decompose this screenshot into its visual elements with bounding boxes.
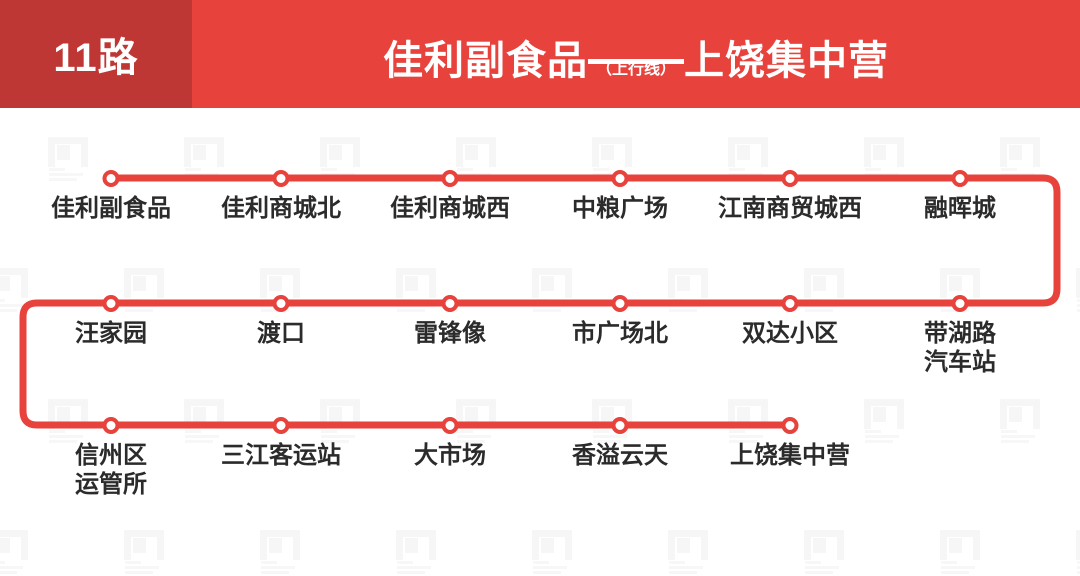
station-label: 中粮广场 [572, 194, 668, 223]
station-label: 双达小区 [742, 319, 838, 348]
station-dot-icon [273, 295, 290, 312]
station-label: 信州区运管所 [75, 441, 147, 500]
route-origin-label: 佳利副食品 [383, 28, 588, 86]
route-number-label: 11路 [0, 0, 192, 108]
route-dash-divider [588, 59, 684, 64]
station-label: 汪家园 [75, 319, 147, 348]
station-label: 佳利副食品 [51, 194, 171, 223]
route-direction-group: （上行线） [588, 39, 684, 84]
station-label-line: 汽车站 [924, 348, 996, 377]
route-diagram: 佳利副食品佳利商城北佳利商城西中粮广场江南商贸城西融晖城汪家园渡口雷锋像市广场北… [0, 108, 1080, 556]
station-label-line: 信州区 [75, 442, 147, 469]
station-label: 三江客运站 [221, 441, 341, 470]
station-dot-icon [273, 170, 290, 187]
station-label-line: 运管所 [75, 470, 147, 499]
station-label: 佳利商城北 [221, 194, 341, 223]
station-dot-icon [103, 417, 120, 434]
station-label-line: 雷锋像 [414, 320, 486, 347]
station-label-line: 佳利商城北 [221, 195, 341, 222]
station-label-line: 上饶集中营 [730, 442, 850, 469]
station-dot-icon [952, 295, 969, 312]
station-dot-icon [782, 417, 799, 434]
station-label-line: 江南商贸城西 [718, 195, 862, 222]
station-label-line: 三江客运站 [221, 442, 341, 469]
route-title-container: 佳利副食品 （上行线） 上饶集中营 [192, 0, 1080, 108]
station-label-line: 佳利副食品 [51, 195, 171, 222]
station-label-line: 中粮广场 [572, 195, 668, 222]
station-label: 江南商贸城西 [718, 194, 862, 223]
station-label-line: 香溢云天 [572, 442, 668, 469]
station-label: 市广场北 [572, 319, 668, 348]
station-label-line: 大市场 [414, 442, 486, 469]
station-label: 佳利商城西 [390, 194, 510, 223]
station-dot-icon [273, 417, 290, 434]
station-label: 雷锋像 [414, 319, 486, 348]
station-label: 渡口 [257, 319, 305, 348]
station-label: 大市场 [414, 441, 486, 470]
station-label-line: 融晖城 [924, 195, 996, 222]
station-dot-icon [612, 417, 629, 434]
station-dot-icon [103, 295, 120, 312]
route-header: 11路 佳利副食品 （上行线） 上饶集中营 [0, 0, 1080, 108]
route-title: 佳利副食品 （上行线） 上饶集中营 [383, 22, 889, 86]
station-dot-icon [103, 170, 120, 187]
station-dot-icon [782, 295, 799, 312]
station-label: 融晖城 [924, 194, 996, 223]
station-dot-icon [612, 295, 629, 312]
station-label-line: 佳利商城西 [390, 195, 510, 222]
station-dot-icon [782, 170, 799, 187]
station-dot-icon [952, 170, 969, 187]
station-dot-icon [442, 295, 459, 312]
route-destination-label: 上饶集中营 [684, 28, 889, 86]
station-dot-icon [442, 170, 459, 187]
station-label: 带湖路汽车站 [924, 319, 996, 378]
station-label-line: 渡口 [257, 320, 305, 347]
station-label: 上饶集中营 [730, 441, 850, 470]
station-label-line: 汪家园 [75, 320, 147, 347]
station-dot-icon [442, 417, 459, 434]
station-label: 香溢云天 [572, 441, 668, 470]
station-label-line: 市广场北 [572, 320, 668, 347]
station-label-line: 双达小区 [742, 320, 838, 347]
station-label-line: 带湖路 [924, 320, 996, 347]
route-line-path [0, 108, 1080, 556]
station-dot-icon [612, 170, 629, 187]
